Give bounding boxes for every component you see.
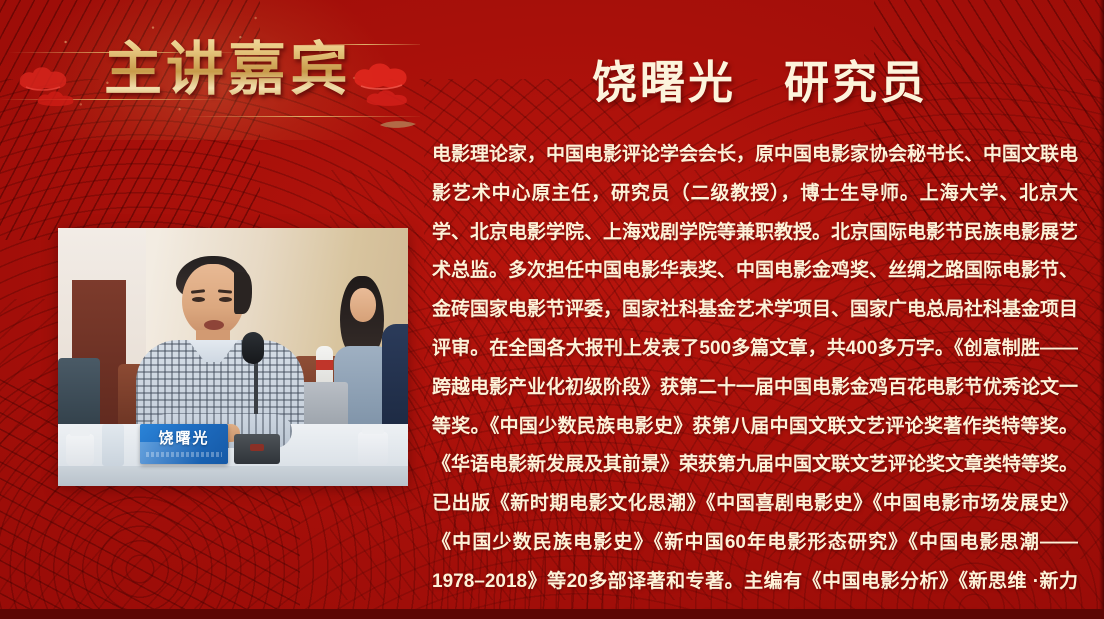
photo-speaker-hair-side — [234, 272, 252, 314]
photo-microphone-button — [250, 444, 264, 451]
slide-root: 主讲嘉宾 饶曙光 研究员 — [0, 0, 1104, 619]
photo-person-background-face — [350, 288, 376, 322]
gold-rule — [186, 116, 420, 117]
photo-teacup — [66, 434, 94, 466]
photo-speaker-eye — [219, 297, 232, 302]
speaker-photo: 饶曙光 — [58, 228, 408, 486]
photo-microphone-head — [242, 332, 264, 364]
photo-bottle-label — [316, 360, 333, 370]
photo-chair — [58, 358, 100, 428]
photo-speaker-mouth — [204, 320, 224, 330]
photo-teacup-lid — [362, 424, 384, 434]
photo-nameplate-text: 饶曙光 — [140, 427, 228, 451]
photo-teacup-lid — [70, 426, 90, 436]
photo-speaker-eye — [192, 297, 205, 302]
right-edge-shade — [1099, 0, 1104, 619]
photo-person-right — [382, 324, 408, 430]
photo-teacup — [358, 432, 388, 466]
page-title: 饶曙光 研究员 — [420, 46, 1100, 111]
banner-header: 主讲嘉宾 — [0, 0, 420, 140]
biography-text: 电影理论家，中国电影评论学会会长，原中国电影家协会秘书长、中国文联电影艺术中心原… — [432, 136, 1078, 619]
photo-nameplate-subtext — [146, 452, 222, 457]
leaf-motif-icon — [378, 118, 418, 130]
photo-table-front — [58, 466, 408, 486]
cloud-motif-icon — [34, 88, 76, 108]
bottom-band — [0, 609, 1104, 619]
photo-water-glass — [102, 424, 124, 466]
banner-title: 主讲嘉宾 — [104, 32, 384, 108]
